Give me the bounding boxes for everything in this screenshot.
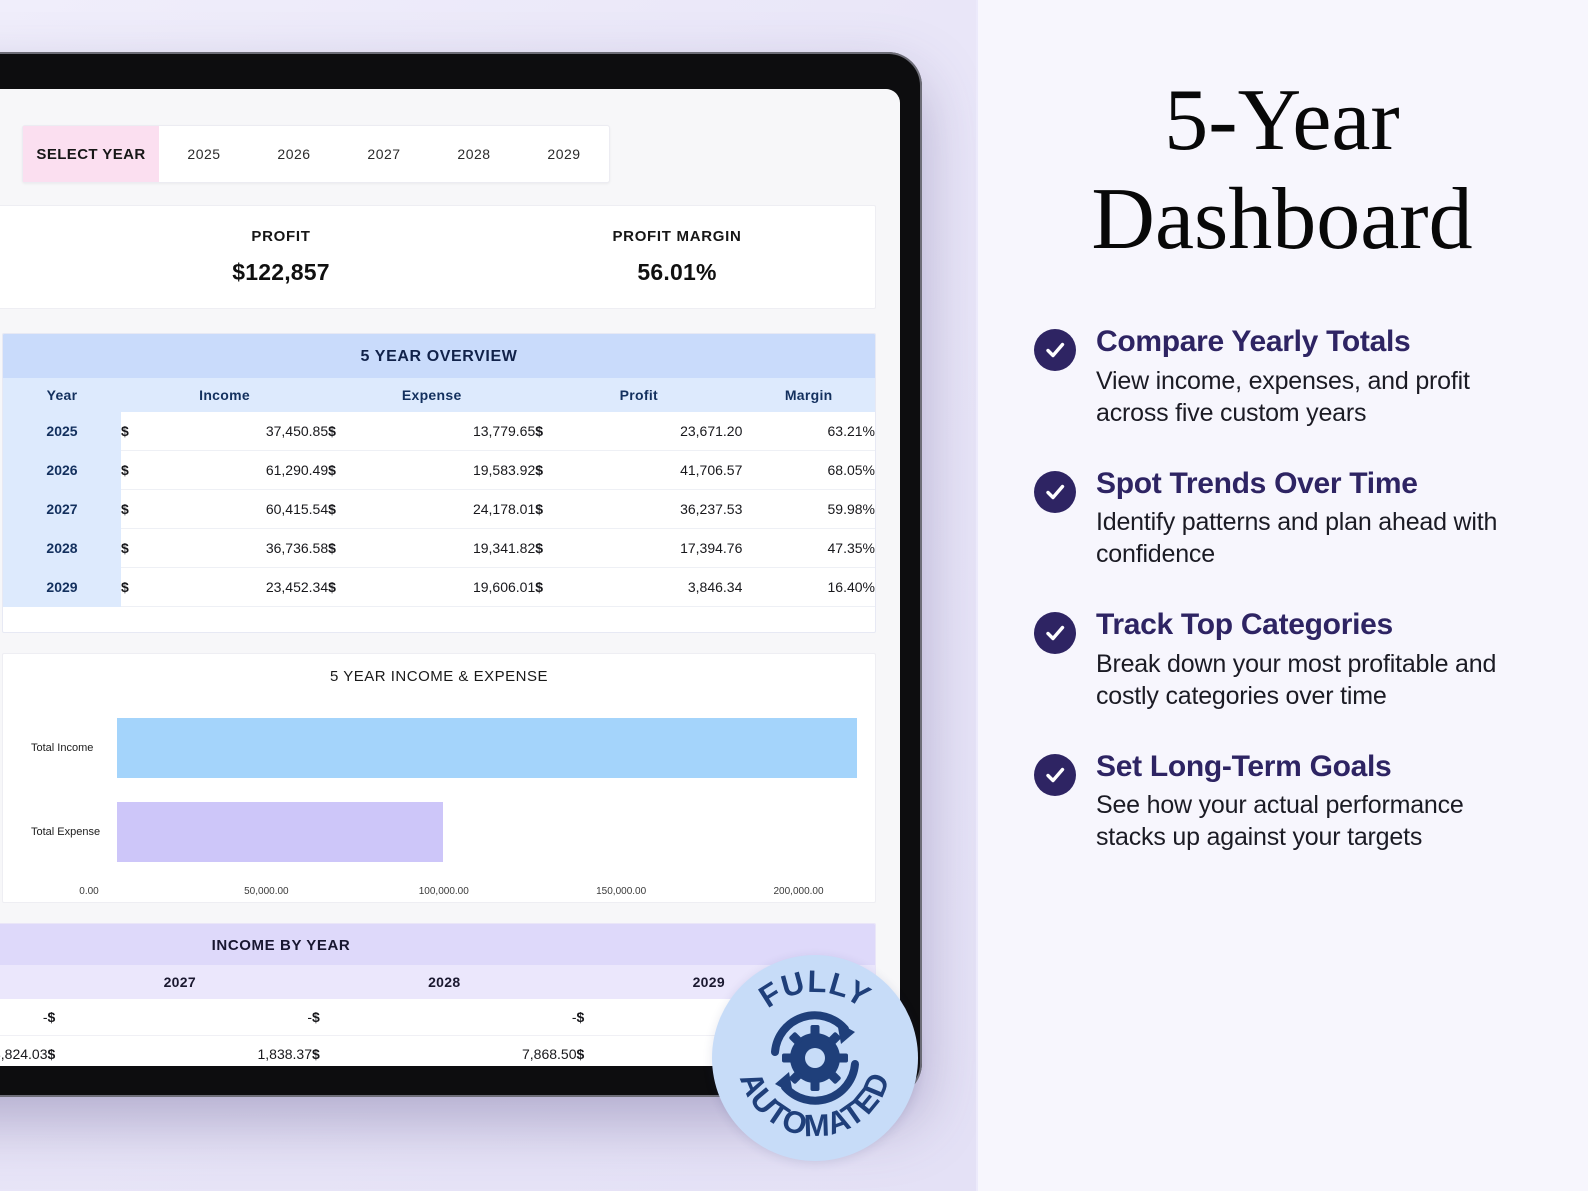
year-option-2029[interactable]: 2029 <box>519 126 609 182</box>
cell-2027: 1,838.37 <box>82 1036 313 1067</box>
x-tick-150k: 150,000.00 <box>596 886 646 897</box>
overview-header-row: Year Income Expense Profit Margin <box>3 378 875 412</box>
select-year-label: SELECT YEAR <box>23 126 159 182</box>
x-tick-100k: 100,000.00 <box>419 886 469 897</box>
cell-margin: 16.40% <box>742 568 875 607</box>
col-profit: Profit <box>535 378 742 412</box>
kpi-profit-margin: PROFIT MARGIN 56.01% <box>479 206 875 308</box>
col-expense: Expense <box>328 378 535 412</box>
currency-symbol: $ <box>121 529 155 568</box>
cell-2028: - <box>346 999 577 1036</box>
table-row: 2025 $ 37,450.85 $ 13,779.65 $ 23,671.20… <box>3 412 875 451</box>
heading-line-2: Dashboard <box>1026 171 1538 270</box>
mid-charts-row: ¦ 2028 2029 5 YEAR OVERVIEW <box>0 333 876 633</box>
cell-expense: 24,178.01 <box>362 490 535 529</box>
currency-symbol: $ <box>328 568 362 607</box>
fully-automated-badge: FULLY AUTOMATED <box>712 955 918 1161</box>
bar-label: Total Income <box>31 742 109 754</box>
left-showcase-panel: ard SELECT YEAR 2025 2026 2027 2028 2029… <box>0 0 976 1191</box>
cell-year: 2026 <box>3 451 121 490</box>
cell-margin: 47.35% <box>742 529 875 568</box>
overview-title: 5 YEAR OVERVIEW <box>3 334 875 378</box>
cell-profit: 23,671.20 <box>569 412 742 451</box>
currency-symbol: $ <box>121 412 155 451</box>
cell-margin: 68.05% <box>742 451 875 490</box>
cell-year: 2029 <box>3 568 121 607</box>
feature-description: Break down your most profitable and cost… <box>1096 648 1538 712</box>
cell-2026: 8,824.03 <box>0 1036 48 1067</box>
currency-symbol: $ <box>121 451 155 490</box>
currency-symbol: $ <box>121 568 155 607</box>
tablet-screen: ard SELECT YEAR 2025 2026 2027 2028 2029… <box>0 89 900 1066</box>
cell-profit: 3,846.34 <box>569 568 742 607</box>
kpi-value: 56.01% <box>637 259 716 286</box>
cell-expense: 19,583.92 <box>362 451 535 490</box>
cell-income: 60,415.54 <box>155 490 328 529</box>
bar-fill-income <box>117 718 857 778</box>
currency-symbol: $ <box>535 490 569 529</box>
lower-charts-row: EXPENSE BREAKDOWN <box>0 653 876 903</box>
check-icon-glyph <box>1043 763 1067 787</box>
feature-title: Compare Yearly Totals <box>1096 325 1538 359</box>
feature-item-compare-yearly-totals: Compare Yearly Totals View income, expen… <box>1034 325 1538 429</box>
spreadsheet-dashboard: ard SELECT YEAR 2025 2026 2027 2028 2029… <box>0 89 900 1066</box>
feature-description: View income, expenses, and profit across… <box>1096 365 1538 429</box>
feature-item-track-top-categories: Track Top Categories Break down your mos… <box>1034 608 1538 712</box>
cell-2027: - <box>82 999 313 1036</box>
currency-symbol: $ <box>328 529 362 568</box>
heading-line-1: 5-Year <box>1026 72 1538 171</box>
check-icon-glyph <box>1043 338 1067 362</box>
tablet-device-mockup: ard SELECT YEAR 2025 2026 2027 2028 2029… <box>0 52 922 1097</box>
cell-profit: 36,237.53 <box>569 490 742 529</box>
kpi-label: PROFIT MARGIN <box>612 228 741 245</box>
table-row: 2029 $ 23,452.34 $ 19,606.01 $ 3,846.34 … <box>3 568 875 607</box>
col-margin: Margin <box>742 378 875 412</box>
kpi-value: $122,857 <box>232 259 330 286</box>
right-marketing-panel: 5-Year Dashboard Compare Yearly Totals V… <box>976 0 1588 1191</box>
marketing-heading: 5-Year Dashboard <box>1026 0 1538 269</box>
currency-symbol: $ <box>535 412 569 451</box>
cell-year: 2025 <box>3 412 121 451</box>
cell-year: 2027 <box>3 490 121 529</box>
currency-symbol: $ <box>535 451 569 490</box>
cell-income: 61,290.49 <box>155 451 328 490</box>
cell-margin: 63.21% <box>742 412 875 451</box>
page-title: ard <box>0 128 16 181</box>
currency-symbol: $ <box>312 1036 346 1067</box>
currency-symbol: $ <box>535 529 569 568</box>
currency-symbol: $ <box>328 451 362 490</box>
check-circle-icon <box>1034 471 1076 513</box>
x-tick-50k: 50,000.00 <box>244 886 289 897</box>
col-year: Year <box>3 378 121 412</box>
currency-symbol: $ <box>328 490 362 529</box>
cell-profit: 41,706.57 <box>569 451 742 490</box>
year-option-2025[interactable]: 2025 <box>159 126 249 182</box>
overview-table: Year Income Expense Profit Margin 2025 <box>3 378 875 607</box>
check-icon-glyph <box>1043 621 1067 645</box>
col-2027: 2027 <box>48 965 313 999</box>
feature-item-spot-trends-over-time: Spot Trends Over Time Identify patterns … <box>1034 467 1538 571</box>
cell-income: 37,450.85 <box>155 412 328 451</box>
currency-symbol: $ <box>577 999 611 1036</box>
col-2028: 2028 <box>312 965 577 999</box>
feature-title: Track Top Categories <box>1096 608 1538 642</box>
year-option-2026[interactable]: 2026 <box>249 126 339 182</box>
table-row: 2028 $ 36,736.58 $ 19,341.82 $ 17,394.76… <box>3 529 875 568</box>
currency-symbol: $ <box>535 568 569 607</box>
feature-item-set-long-term-goals: Set Long-Term Goals See how your actual … <box>1034 750 1538 854</box>
col-2026: 2026 <box>0 965 48 999</box>
col-income: Income <box>121 378 328 412</box>
year-selector[interactable]: SELECT YEAR 2025 2026 2027 2028 2029 <box>22 125 610 183</box>
feature-list: Compare Yearly Totals View income, expen… <box>1026 325 1538 853</box>
income-expense-bar-card: 5 YEAR INCOME & EXPENSE Total Income Tot… <box>2 653 876 903</box>
dashboard-header: ard SELECT YEAR 2025 2026 2027 2028 2029 <box>0 89 876 201</box>
feature-description: Identify patterns and plan ahead with co… <box>1096 506 1538 570</box>
bar-track <box>117 718 857 778</box>
currency-symbol: $ <box>121 490 155 529</box>
svg-text:FULLY: FULLY <box>753 964 877 1015</box>
cell-margin: 59.98% <box>742 490 875 529</box>
horizontal-bar-plot: Total Income Total Expense <box>3 700 875 902</box>
five-year-overview-card: 5 YEAR OVERVIEW Year Income Expense Prof… <box>2 333 876 633</box>
currency-symbol: $ <box>577 1036 611 1067</box>
bar-fill-expense <box>117 802 443 862</box>
feature-title: Spot Trends Over Time <box>1096 467 1538 501</box>
badge-top-text: FULLY <box>753 964 877 1015</box>
cell-income: 36,736.58 <box>155 529 328 568</box>
year-option-2028[interactable]: 2028 <box>429 126 519 182</box>
check-circle-icon <box>1034 612 1076 654</box>
cell-expense: 13,779.65 <box>362 412 535 451</box>
fully-automated-badge-svg: FULLY AUTOMATED <box>712 955 918 1161</box>
kpi-summary-row: TOTAL EXPENSES $96,489 PROFIT $122,857 P… <box>0 205 876 309</box>
bar-row-total-expense: Total Expense <box>31 802 857 862</box>
bar-track <box>117 802 857 862</box>
kpi-label: PROFIT <box>251 228 310 245</box>
kpi-total-expenses: TOTAL EXPENSES $96,489 <box>0 206 83 308</box>
cell-profit: 17,394.76 <box>569 529 742 568</box>
income-expense-title: 5 YEAR INCOME & EXPENSE <box>3 654 875 685</box>
year-option-2027[interactable]: 2027 <box>339 126 429 182</box>
currency-symbol: $ <box>328 412 362 451</box>
table-row: 2026 $ 61,290.49 $ 19,583.92 $ 41,706.57… <box>3 451 875 490</box>
cell-income: 23,452.34 <box>155 568 328 607</box>
check-icon-glyph <box>1043 480 1067 504</box>
table-row: 2027 $ 60,415.54 $ 24,178.01 $ 36,237.53… <box>3 490 875 529</box>
cell-year: 2028 <box>3 529 121 568</box>
bar-row-total-income: Total Income <box>31 718 857 778</box>
feature-description: See how your actual performance stacks u… <box>1096 789 1538 853</box>
x-tick-0: 0.00 <box>79 886 98 897</box>
cell-2028: 7,868.50 <box>346 1036 577 1067</box>
check-circle-icon <box>1034 754 1076 796</box>
cell-2026: - <box>0 999 48 1036</box>
currency-symbol: $ <box>48 1036 82 1067</box>
bar-label: Total Expense <box>31 826 109 838</box>
feature-title: Set Long-Term Goals <box>1096 750 1538 784</box>
gear-refresh-icon <box>775 1015 855 1100</box>
kpi-profit: PROFIT $122,857 <box>83 206 479 308</box>
cell-expense: 19,606.01 <box>362 568 535 607</box>
check-circle-icon <box>1034 329 1076 371</box>
x-tick-200k: 200,000.00 <box>774 886 824 897</box>
currency-symbol: $ <box>312 999 346 1036</box>
currency-symbol: $ <box>48 999 82 1036</box>
cell-expense: 19,341.82 <box>362 529 535 568</box>
